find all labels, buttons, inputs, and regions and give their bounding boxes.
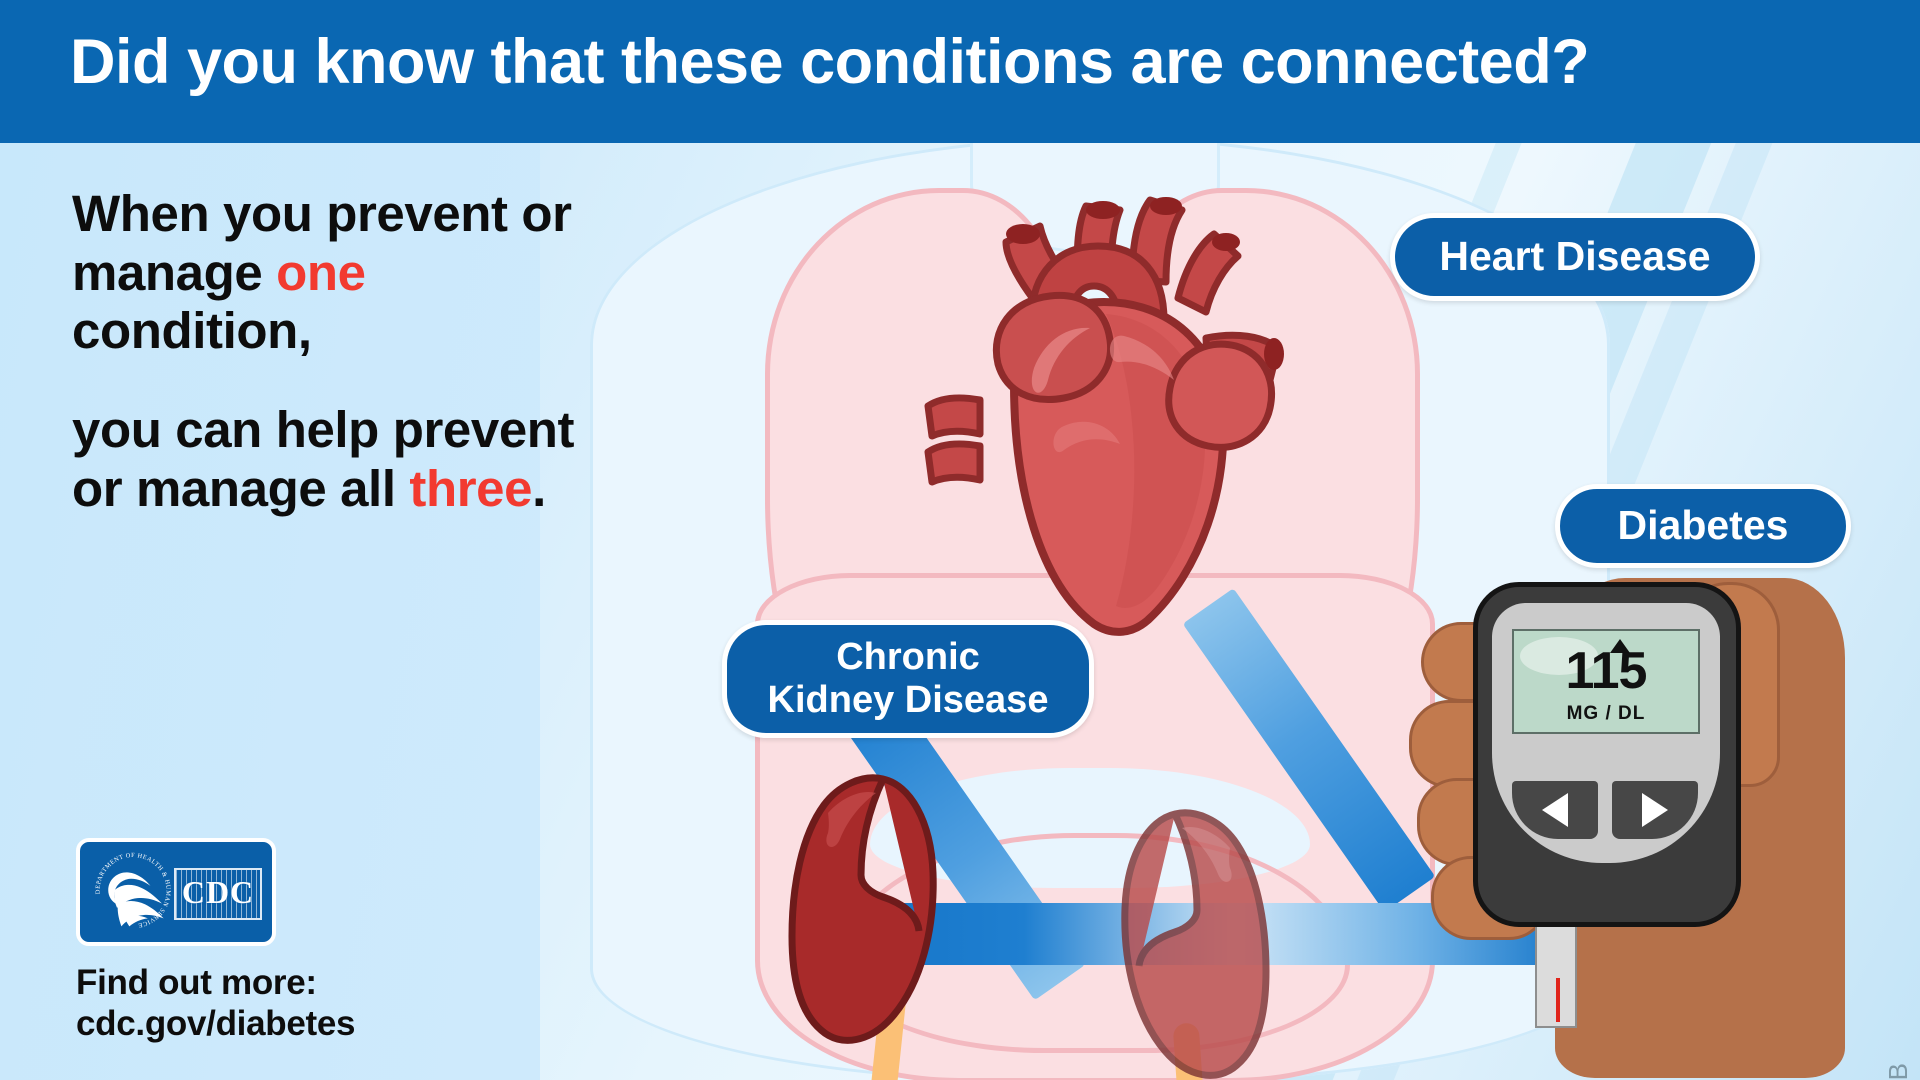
message-paragraph-2: you can help prevent or manage all three… bbox=[72, 401, 612, 518]
paragraph-2-highlight: three bbox=[409, 460, 532, 517]
page-title: Did you know that these conditions are c… bbox=[70, 26, 1589, 98]
badge-chronic-kidney-disease[interactable]: Chronic Kidney Disease bbox=[722, 620, 1094, 738]
badge-diabetes-label: Diabetes bbox=[1618, 503, 1789, 549]
right-kidney-icon bbox=[1120, 808, 1270, 1080]
badge-ckd-line-1: Chronic bbox=[836, 636, 980, 679]
badge-heart-disease-label: Heart Disease bbox=[1439, 234, 1710, 280]
find-out-more-block: Find out more: cdc.gov/diabetes bbox=[76, 963, 355, 1045]
badge-ckd-line-2: Kidney Disease bbox=[768, 679, 1049, 722]
glucose-reading-unit: MG / DL bbox=[1514, 703, 1698, 725]
badge-diabetes[interactable]: Diabetes bbox=[1555, 484, 1851, 568]
header-banner: Did you know that these conditions are c… bbox=[0, 0, 1920, 143]
cdc-logo[interactable]: DEPARTMENT OF HEALTH & HUMAN SERVICES US… bbox=[76, 838, 276, 946]
cdc-wordmark: CDC bbox=[174, 868, 262, 920]
heart-illustration bbox=[910, 188, 1310, 658]
test-strip-blood-line bbox=[1556, 978, 1560, 1022]
paragraph-1-highlight: one bbox=[276, 244, 365, 301]
glucose-reading-value: 115 bbox=[1514, 645, 1698, 697]
publication-code: CS 331962-B bbox=[1883, 1062, 1914, 1080]
cdc-website-link[interactable]: cdc.gov/diabetes bbox=[76, 1004, 355, 1045]
glucose-meter-device[interactable]: 115 MG / DL bbox=[1473, 582, 1741, 927]
hand-holding-glucose-meter: 115 MG / DL bbox=[1425, 560, 1920, 1080]
hhs-seal-icon: DEPARTMENT OF HEALTH & HUMAN SERVICES US… bbox=[88, 848, 176, 936]
cdc-branding-block: DEPARTMENT OF HEALTH & HUMAN SERVICES US… bbox=[76, 838, 355, 1045]
triangle-left-icon bbox=[1542, 793, 1568, 827]
meter-screen: 115 MG / DL bbox=[1512, 629, 1700, 734]
message-paragraph-1: When you prevent or manage one condition… bbox=[72, 185, 612, 361]
message-column: When you prevent or manage one condition… bbox=[72, 185, 612, 518]
meter-left-button[interactable] bbox=[1512, 781, 1598, 839]
badge-heart-disease[interactable]: Heart Disease bbox=[1390, 213, 1760, 301]
paragraph-1-part-2: condition, bbox=[72, 302, 312, 359]
anatomical-heart-icon bbox=[910, 188, 1310, 658]
cdc-infographic-poster: Chronic Kidney Disease Heart Disease Dia… bbox=[0, 0, 1920, 1080]
triangle-right-icon bbox=[1642, 793, 1668, 827]
meter-face: 115 MG / DL bbox=[1492, 603, 1720, 863]
paragraph-2-part-2: . bbox=[532, 460, 546, 517]
cdc-wordmark-text: CDC bbox=[176, 876, 260, 908]
meter-right-button[interactable] bbox=[1612, 781, 1698, 839]
left-kidney-icon bbox=[788, 773, 938, 1048]
find-out-more-label: Find out more: bbox=[76, 963, 355, 1004]
